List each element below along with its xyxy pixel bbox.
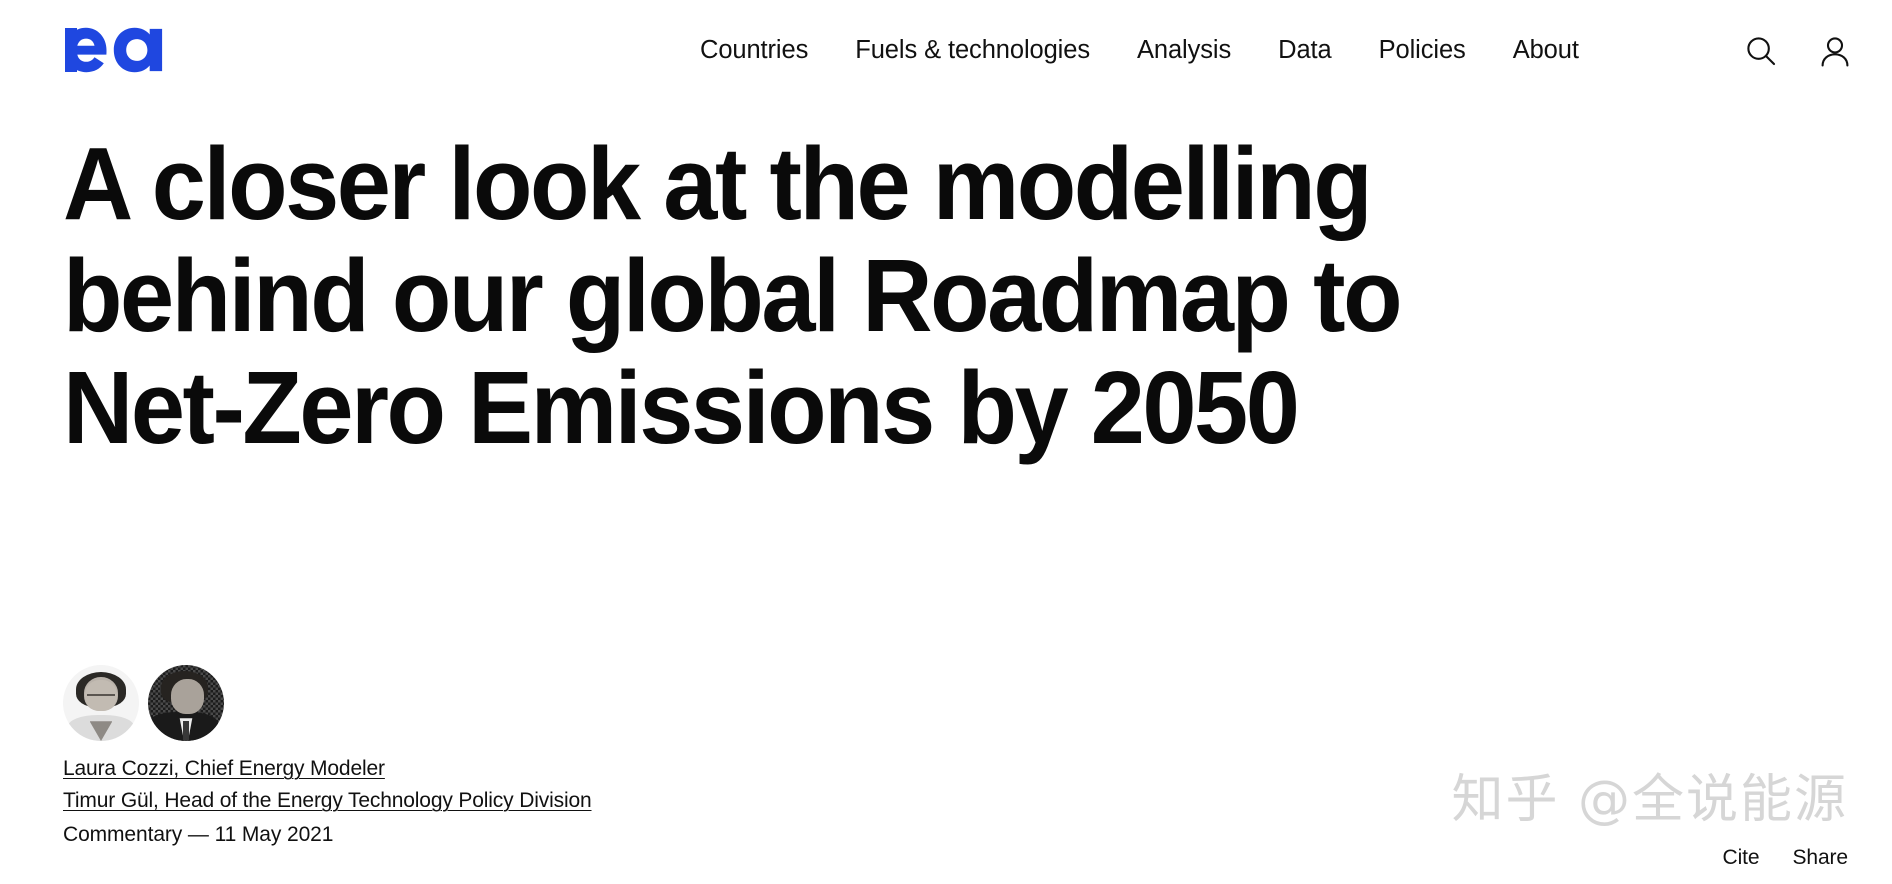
title-line-3: Net-Zero Emissions by 2050 <box>63 352 1405 464</box>
author-link-laura-cozzi[interactable]: Laura Cozzi, Chief Energy Modeler <box>63 754 385 784</box>
account-button[interactable] <box>1816 32 1854 70</box>
search-button[interactable] <box>1742 32 1780 70</box>
author-avatars <box>63 664 963 742</box>
title-line-1: A closer look at the modelling <box>63 128 1405 240</box>
watermark: 知乎 @全说能源 <box>1451 757 1848 832</box>
article-actions: Cite Share <box>1723 846 1849 870</box>
avatar-timur-gul <box>148 665 224 741</box>
user-icon <box>1818 34 1852 68</box>
cite-button[interactable]: Cite <box>1723 846 1760 870</box>
nav-item-policies[interactable]: Policies <box>1379 38 1466 64</box>
site-header: Countries Fuels & technologies Analysis … <box>0 0 1892 102</box>
title-line-2: behind our global Roadmap to <box>63 240 1405 352</box>
author-link-timur-gul[interactable]: Timur Gül, Head of the Energy Technology… <box>63 786 592 816</box>
page-title: A closer look at the modelling behind ou… <box>63 128 1405 463</box>
nav-item-countries[interactable]: Countries <box>700 38 808 64</box>
article-meta: Commentary — 11 May 2021 <box>63 819 963 850</box>
nav-item-data[interactable]: Data <box>1278 38 1331 64</box>
avatar-laura-cozzi <box>63 665 139 741</box>
iea-logo[interactable] <box>63 22 191 78</box>
share-button[interactable]: Share <box>1792 846 1848 870</box>
nav-item-fuels[interactable]: Fuels & technologies <box>855 38 1090 64</box>
header-tools <box>1742 0 1854 102</box>
author-row-1: Laura Cozzi, Chief Energy Modeler <box>63 754 963 786</box>
author-row-2: Timur Gül, Head of the Energy Technology… <box>63 786 963 818</box>
search-icon <box>1744 34 1778 68</box>
nav-item-about[interactable]: About <box>1513 38 1579 64</box>
nav-item-analysis[interactable]: Analysis <box>1137 38 1231 64</box>
byline-block: Laura Cozzi, Chief Energy Modeler Timur … <box>63 664 963 850</box>
main-navigation: Countries Fuels & technologies Analysis … <box>700 0 1579 102</box>
